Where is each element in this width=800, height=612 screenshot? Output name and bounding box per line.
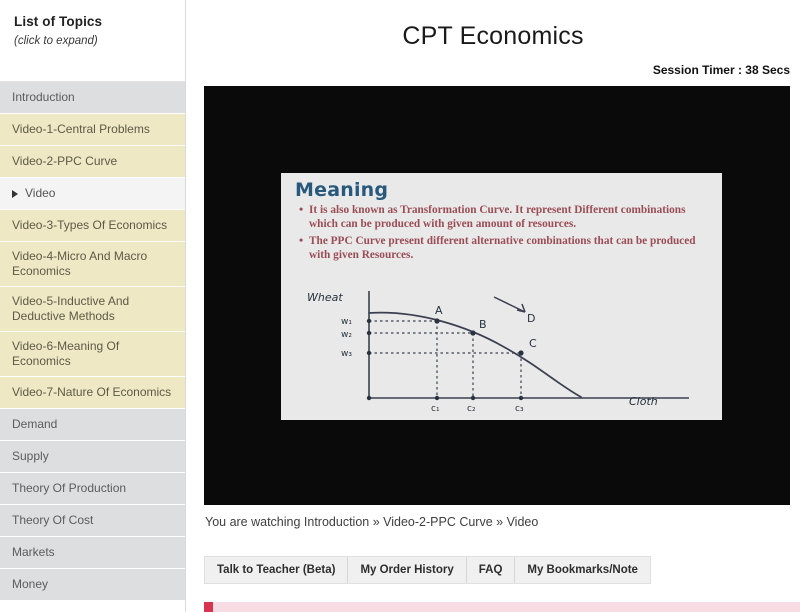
slide-bullet-list: It is also known as Transformation Curve… xyxy=(281,204,722,262)
main-content: CPT Economics Session Timer : 38 Secs Me… xyxy=(186,0,800,612)
figure-label-c1: c₁ xyxy=(431,404,440,414)
sidebar-item-money[interactable]: Money xyxy=(0,569,185,601)
sidebar-item-video-1-central-problems[interactable]: Video-1-Central Problems xyxy=(0,114,185,146)
sidebar-item-video[interactable]: Video xyxy=(0,178,185,210)
course-player-page: List of Topics (click to expand) Introdu… xyxy=(0,0,800,612)
sidebar-item-label: Video xyxy=(25,186,55,201)
sidebar-item-demand[interactable]: Demand xyxy=(0,409,185,441)
sidebar-item-video-7-nature-of-economics[interactable]: Video-7-Nature Of Economics xyxy=(0,377,185,409)
sidebar-item-label: Money xyxy=(12,577,48,592)
sidebar-item-label: Video-5-Inductive And Deductive Methods xyxy=(12,294,175,324)
figure-label-c2: c₂ xyxy=(467,404,476,414)
page-title: CPT Economics xyxy=(186,22,800,51)
action-button-bar: Talk to Teacher (Beta)My Order HistoryFA… xyxy=(204,556,651,584)
sidebar-item-label: Video-7-Nature Of Economics xyxy=(12,385,171,400)
ppc-curve-figure: Wheat Cloth A B C D w₁ w₂ w₃ c₁ c₂ c₃ xyxy=(289,285,719,417)
figure-label-pA: A xyxy=(435,304,443,317)
figure-label-w2: w₂ xyxy=(341,330,352,340)
sidebar-item-label: Theory Of Cost xyxy=(12,513,93,528)
sidebar-item-video-2-ppc-curve[interactable]: Video-2-PPC Curve xyxy=(0,146,185,178)
figure-label-w3: w₃ xyxy=(341,349,352,359)
action-button-my-bookmarks-note[interactable]: My Bookmarks/Note xyxy=(515,557,650,583)
figure-label-ylabel: Wheat xyxy=(307,291,343,304)
notification-bar xyxy=(204,602,800,612)
sidebar-item-supply[interactable]: Supply xyxy=(0,441,185,473)
sidebar-item-label: Video-6-Meaning Of Economics xyxy=(12,339,175,369)
session-timer: Session Timer : 38 Secs xyxy=(186,51,800,81)
action-button-my-order-history[interactable]: My Order History xyxy=(348,557,466,583)
figure-label-w1: w₁ xyxy=(341,317,352,327)
sidebar-item-theory-of-production[interactable]: Theory Of Production xyxy=(0,473,185,505)
sidebar-item-label: Video-1-Central Problems xyxy=(12,122,150,137)
figure-label-c3: c₃ xyxy=(515,404,524,414)
video-slide: Meaning It is also known as Transformati… xyxy=(281,173,722,420)
sidebar-item-label: Demand xyxy=(12,417,57,432)
slide-bullet: It is also known as Transformation Curve… xyxy=(299,204,708,231)
slide-bullet: The PPC Curve present different alternat… xyxy=(299,235,708,262)
sidebar-item-video-3-types-of-economics[interactable]: Video-3-Types Of Economics xyxy=(0,210,185,242)
sidebar-item-label: Video-2-PPC Curve xyxy=(12,154,117,169)
action-button-faq[interactable]: FAQ xyxy=(467,557,516,583)
sidebar-item-video-6-meaning-of-economics[interactable]: Video-6-Meaning Of Economics xyxy=(0,332,185,377)
sidebar-subtitle: (click to expand) xyxy=(14,35,171,47)
sidebar-item-label: Video-3-Types Of Economics xyxy=(12,218,167,233)
caret-right-icon xyxy=(12,190,18,198)
slide-heading: Meaning xyxy=(295,179,722,201)
topic-list: IntroductionVideo-1-Central ProblemsVide… xyxy=(0,82,185,601)
video-player[interactable]: Meaning It is also known as Transformati… xyxy=(204,86,790,505)
topics-sidebar: List of Topics (click to expand) Introdu… xyxy=(0,0,186,612)
figure-label-pD: D xyxy=(527,312,535,325)
sidebar-item-label: Introduction xyxy=(12,90,75,105)
action-button-talk-to-teacher-beta[interactable]: Talk to Teacher (Beta) xyxy=(205,557,348,583)
sidebar-item-introduction[interactable]: Introduction xyxy=(0,82,185,114)
sidebar-item-video-4-micro-and-macro-economics[interactable]: Video-4-Micro And Macro Economics xyxy=(0,242,185,287)
sidebar-item-theory-of-cost[interactable]: Theory Of Cost xyxy=(0,505,185,537)
figure-label-xlabel: Cloth xyxy=(629,395,658,408)
breadcrumb: You are watching Introduction » Video-2-… xyxy=(205,515,538,529)
sidebar-item-label: Theory Of Production xyxy=(12,481,126,496)
sidebar-item-video-5-inductive-and-deductive-methods[interactable]: Video-5-Inductive And Deductive Methods xyxy=(0,287,185,332)
figure-label-pB: B xyxy=(479,318,487,331)
sidebar-item-label: Supply xyxy=(12,449,49,464)
sidebar-header: List of Topics (click to expand) xyxy=(0,0,185,82)
sidebar-item-markets[interactable]: Markets xyxy=(0,537,185,569)
sidebar-item-label: Video-4-Micro And Macro Economics xyxy=(12,249,175,279)
sidebar-title: List of Topics xyxy=(14,14,171,29)
sidebar-item-label: Markets xyxy=(12,545,55,560)
figure-label-pC: C xyxy=(529,337,537,350)
